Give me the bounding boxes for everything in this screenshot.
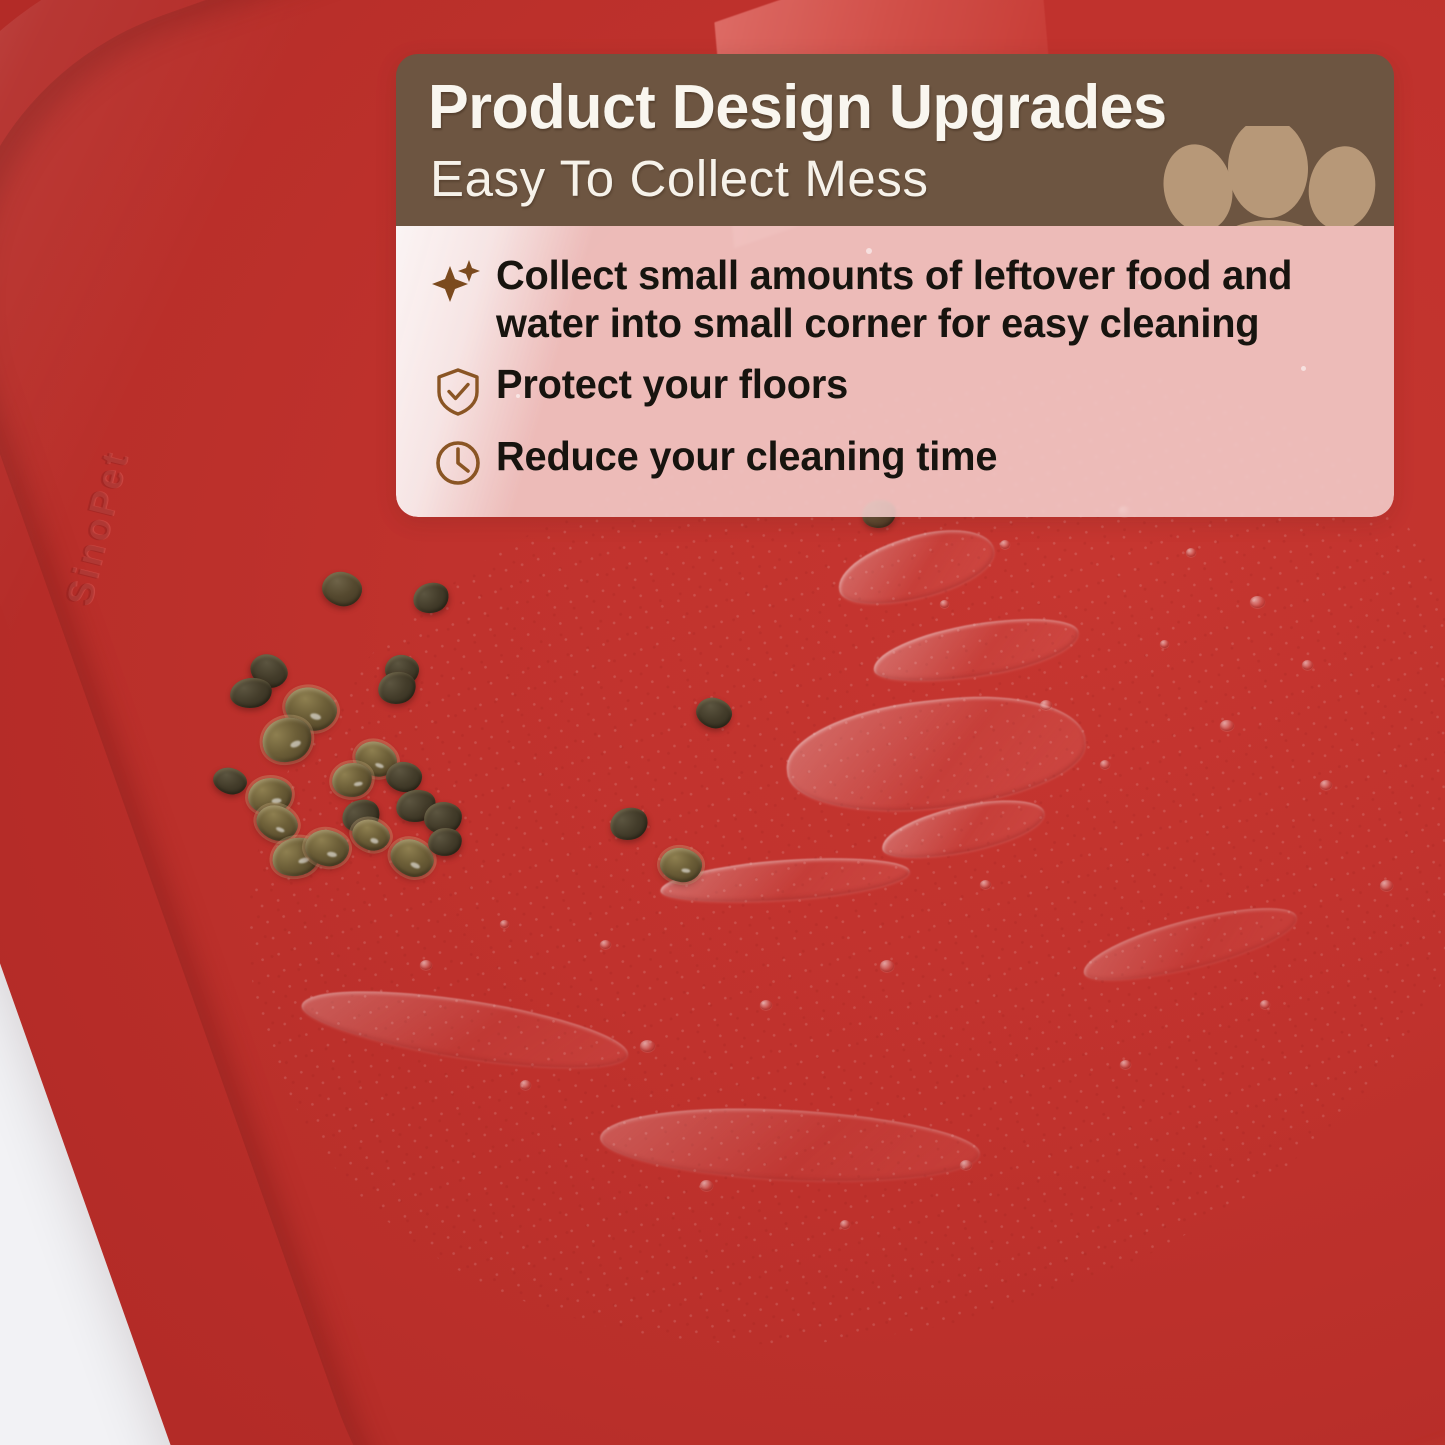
list-item-label: Reduce your cleaning time	[496, 433, 997, 481]
list-item-label: Protect your floors	[496, 361, 848, 409]
shield-check-icon	[430, 363, 486, 419]
page-subtitle: Easy To Collect Mess	[430, 152, 1394, 206]
product-marketing-image: SinoPet	[0, 0, 1445, 1445]
panel-header: Product Design Upgrades Easy To Collect …	[396, 54, 1394, 226]
feature-callout-panel: Product Design Upgrades Easy To Collect …	[396, 54, 1394, 517]
sparkle-icon	[430, 254, 486, 310]
list-item: Reduce your cleaning time	[430, 433, 1366, 491]
feature-list: Collect small amounts of leftover food a…	[430, 252, 1366, 491]
page-title: Product Design Upgrades	[428, 76, 1380, 140]
panel-body: Collect small amounts of leftover food a…	[396, 226, 1394, 517]
list-item-label: Collect small amounts of leftover food a…	[496, 252, 1340, 347]
list-item: Collect small amounts of leftover food a…	[430, 252, 1366, 347]
clock-icon	[430, 435, 486, 491]
list-item: Protect your floors	[430, 361, 1366, 419]
